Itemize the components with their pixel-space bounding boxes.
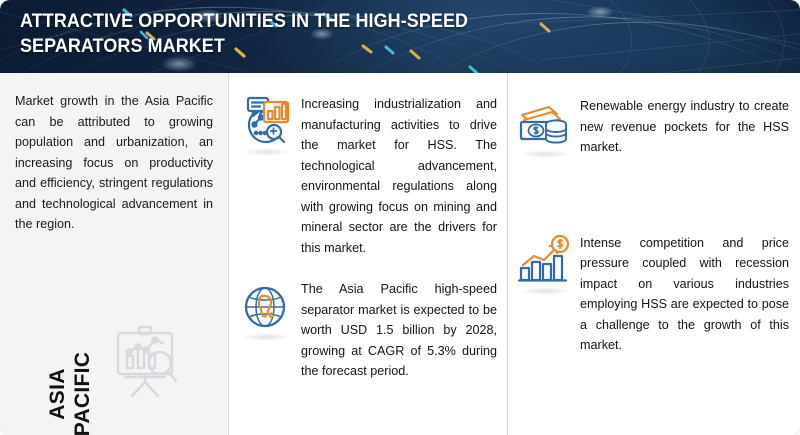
insight-card-text: Intense competition and price pressure c… — [580, 232, 789, 356]
insight-card: Intense competition and price pressure c… — [508, 232, 799, 356]
icon-shadow — [520, 287, 570, 295]
icon-shadow — [241, 148, 291, 156]
middle-column: Increasing industrialization and manufac… — [228, 73, 507, 435]
header-banner: ATTRACTIVE OPPORTUNITIES IN THE HIGH-SPE… — [0, 0, 800, 73]
region-panel: Market growth in the Asia Pacific can be… — [0, 73, 228, 435]
icon-shadow — [241, 333, 291, 341]
body-area: Market growth in the Asia Pacific can be… — [0, 73, 800, 435]
right-column: Renewable energy industry to create new … — [507, 73, 799, 435]
infographic-card: ATTRACTIVE OPPORTUNITIES IN THE HIGH-SPE… — [0, 0, 800, 435]
insight-card: The Asia Pacific high-speed separator ma… — [229, 278, 507, 382]
globe-icon — [237, 280, 295, 338]
page-title: ATTRACTIVE OPPORTUNITIES IN THE HIGH-SPE… — [20, 9, 535, 59]
money-cash-coins-icon — [516, 97, 574, 155]
analytics-percent-search-icon — [237, 95, 295, 153]
icon-shadow — [520, 150, 570, 158]
insight-card: Renewable energy industry to create new … — [508, 95, 799, 158]
insight-card-text: Increasing industrialization and manufac… — [301, 93, 497, 258]
region-summary-text: Market growth in the Asia Pacific can be… — [15, 91, 213, 235]
insight-card: Increasing industrialization and manufac… — [229, 93, 507, 258]
insight-card-text: The Asia Pacific high-speed separator ma… — [301, 278, 497, 382]
insight-card-text: Renewable energy industry to create new … — [580, 95, 789, 158]
presentation-chart-search-icon — [105, 324, 185, 407]
region-label: ASIA PACIFIC — [45, 342, 95, 435]
region-footer: ASIA PACIFIC — [0, 309, 228, 429]
bar-chart-growth-dollar-icon — [516, 234, 574, 292]
